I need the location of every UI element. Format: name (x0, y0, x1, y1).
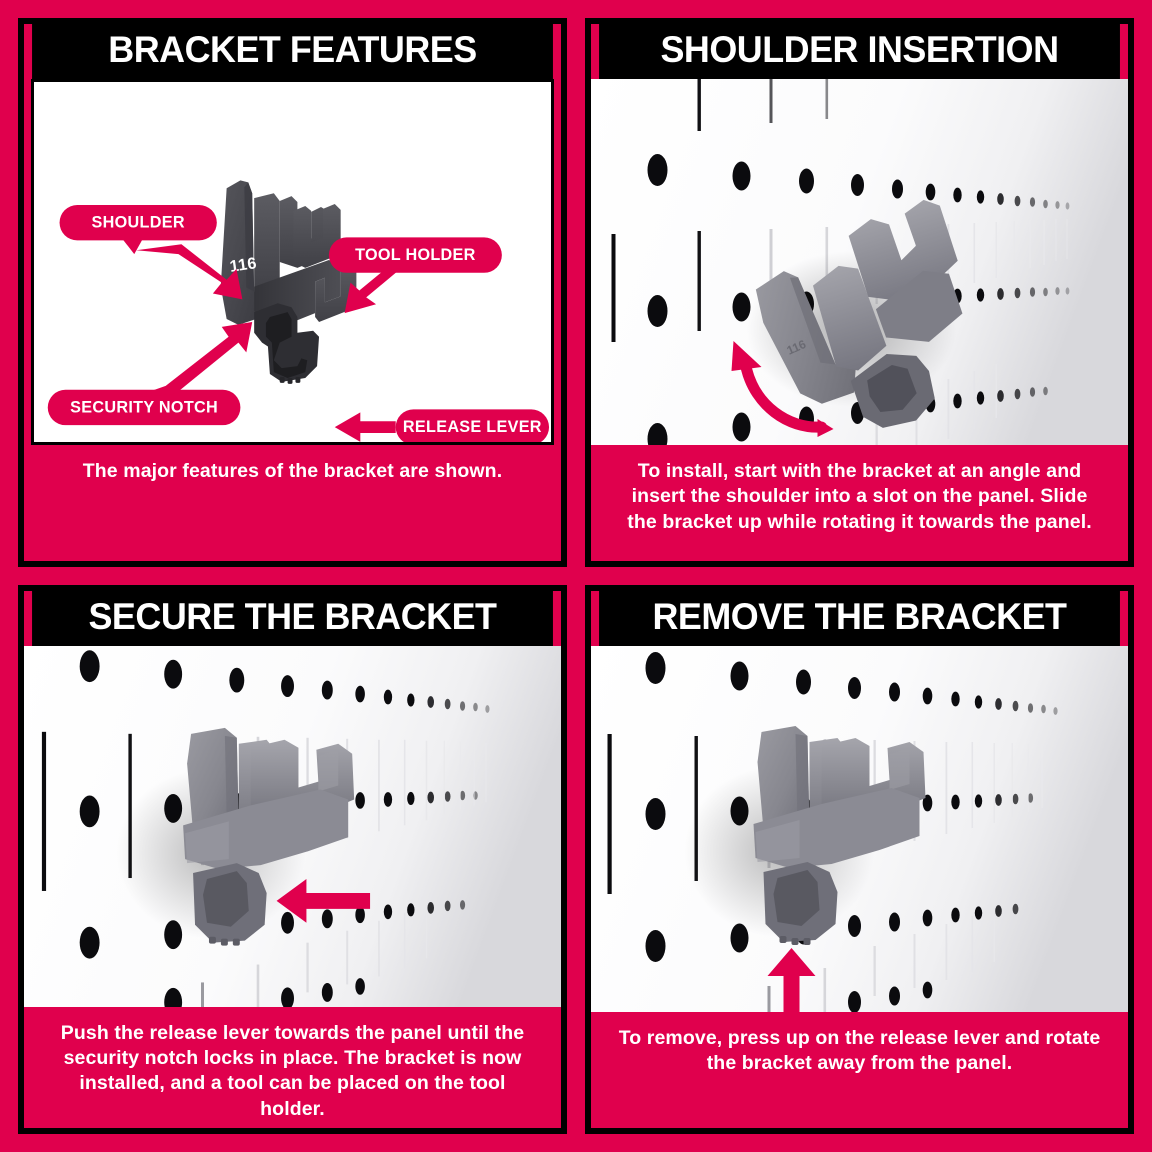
panel-caption-shoulder-insertion: To install, start with the bracket at an… (591, 445, 1128, 561)
callout-label-shoulder: SHOULDER (92, 214, 185, 232)
panel-shoulder-insertion: SHOULDER INSERTION (585, 18, 1134, 567)
panel-caption-bracket-features: The major features of the bracket are sh… (24, 445, 561, 561)
remove-bracket-photo (591, 646, 1128, 1012)
panel-caption-secure-the-bracket: Push the release lever towards the panel… (24, 1007, 561, 1128)
infographic-sheet: BRACKET FEATURES (0, 0, 1152, 1152)
bracket-part-marking-116: 116 (229, 254, 258, 276)
callout-label-tool-holder: TOOL HOLDER (355, 246, 476, 264)
panel-caption-remove-the-bracket: To remove, press up on the release lever… (591, 1012, 1128, 1128)
callout-label-release-lever: RELEASE LEVER (403, 418, 542, 436)
panel-title-secure-the-bracket: SECURE THE BRACKET (32, 591, 553, 646)
secure-bracket-photo (24, 646, 561, 1007)
panel-bracket-features: BRACKET FEATURES (18, 18, 567, 567)
shoulder-insertion-photo: 116 (591, 79, 1128, 445)
panel-title-shoulder-insertion: SHOULDER INSERTION (599, 24, 1120, 79)
panel-title-remove-the-bracket: REMOVE THE BRACKET (599, 591, 1120, 646)
panel-secure-the-bracket: SECURE THE BRACKET (18, 585, 567, 1134)
bracket-features-diagram: 116 SHOULDER TOOL HOLDER (31, 79, 554, 445)
panel-remove-the-bracket: REMOVE THE BRACKET (585, 585, 1134, 1134)
callout-label-security-notch: SECURITY NOTCH (70, 398, 218, 416)
panel-title-bracket-features: BRACKET FEATURES (32, 24, 553, 79)
